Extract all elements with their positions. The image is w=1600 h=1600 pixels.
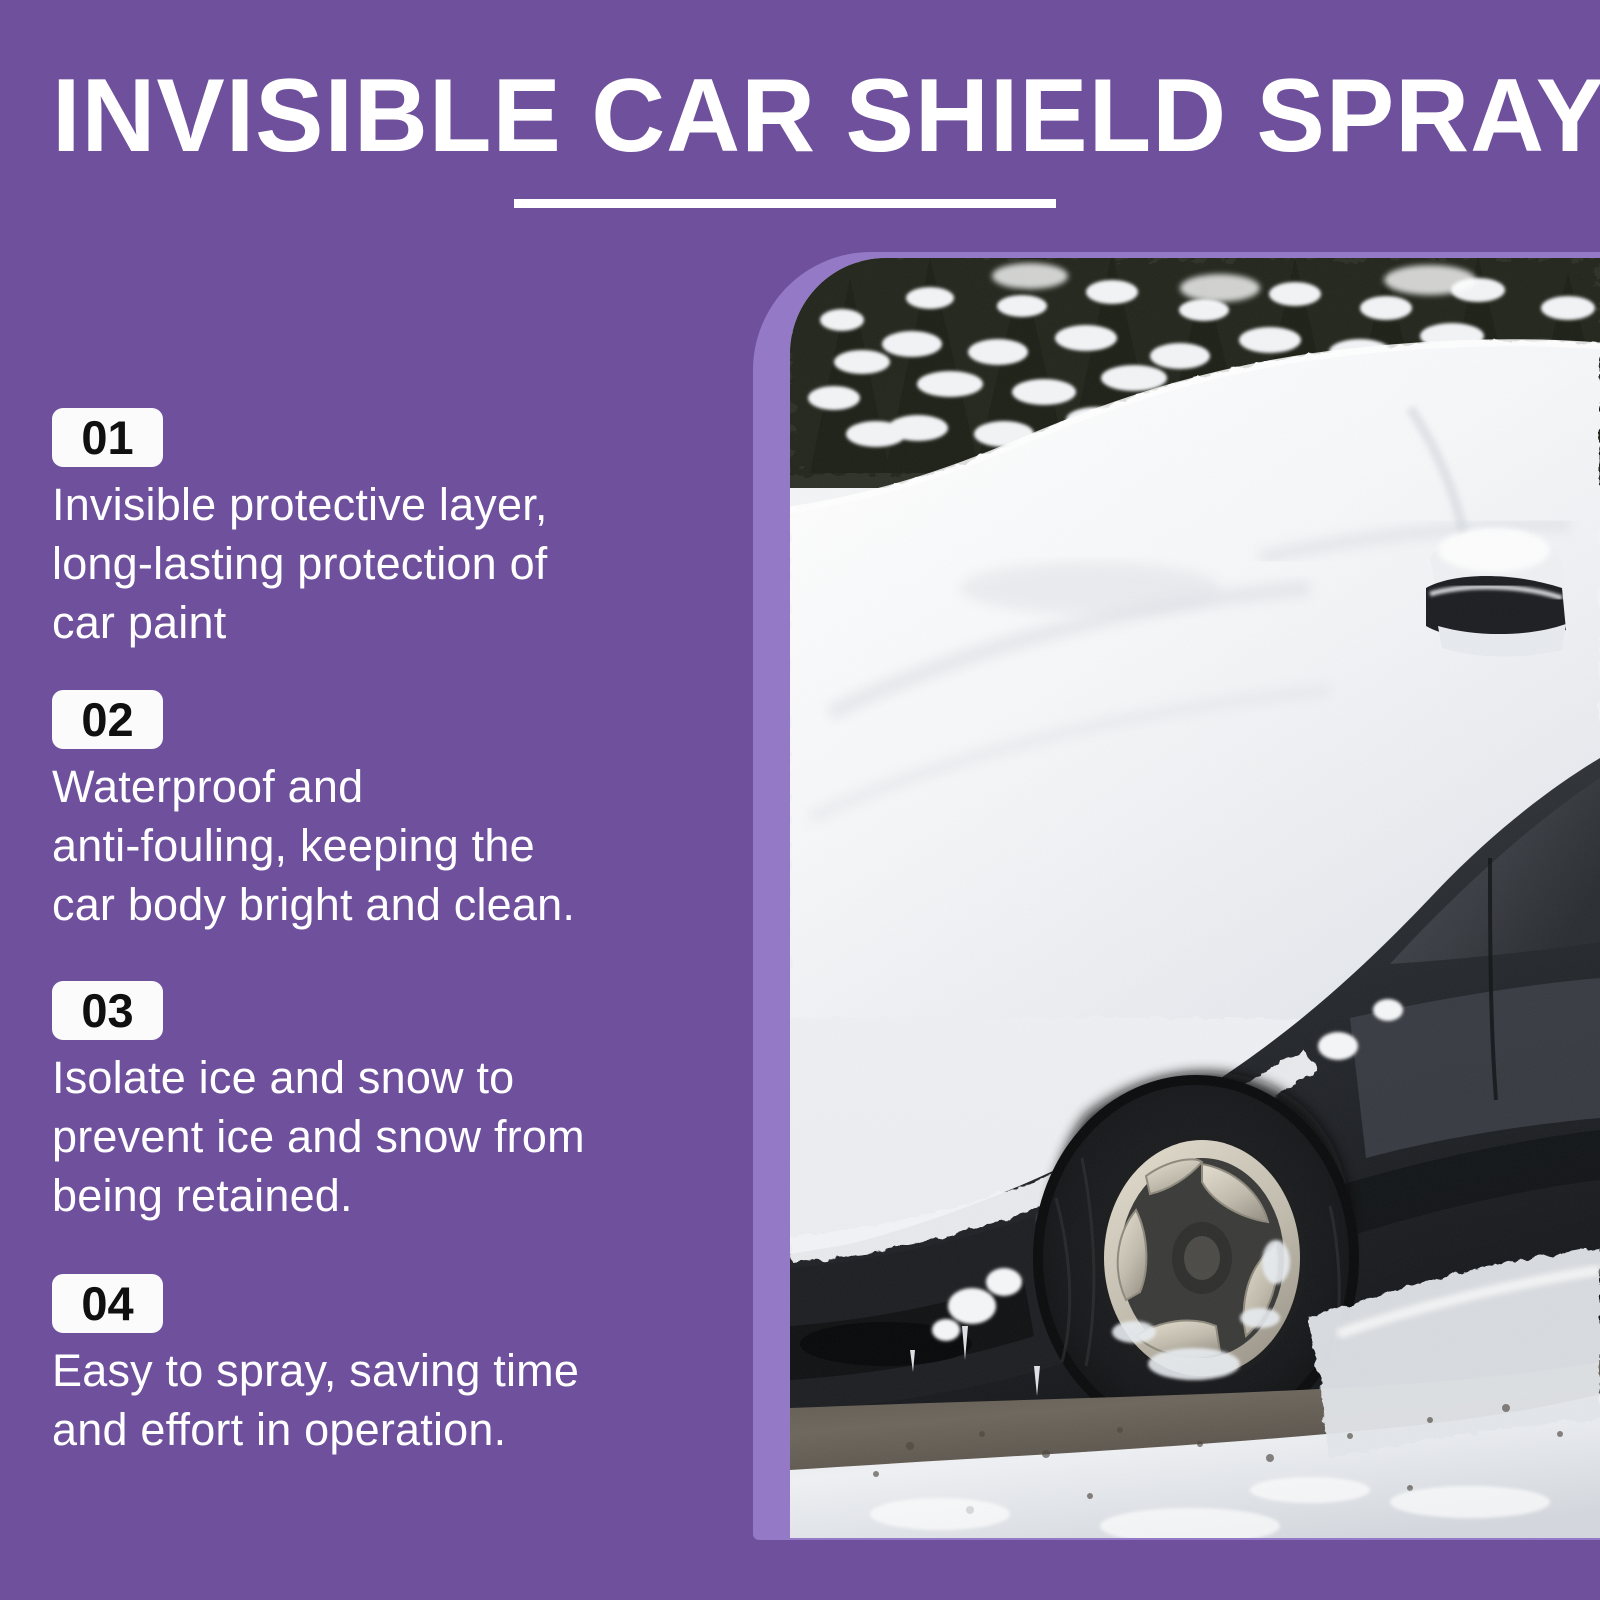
product-feature-poster: INVISIBLE CAR SHIELD SPRAY <box>0 0 1600 1600</box>
feature-number-badge: 02 <box>52 690 163 749</box>
feature-number-badge: 01 <box>52 408 163 467</box>
feature-item: 01 Invisible protective layer, long-last… <box>52 408 692 652</box>
feature-description: Invisible protective layer, long-lasting… <box>52 475 692 652</box>
title-underline-rule <box>514 199 1056 208</box>
feature-number-badge: 03 <box>52 981 163 1040</box>
feature-item: 03 Isolate ice and snow to prevent ice a… <box>52 981 692 1225</box>
snow-covered-car-photo <box>790 258 1600 1538</box>
feature-number-badge: 04 <box>52 1274 163 1333</box>
page-title: INVISIBLE CAR SHIELD SPRAY <box>52 62 1539 170</box>
feature-description: Waterproof and anti-fouling, keeping the… <box>52 757 692 934</box>
feature-description: Isolate ice and snow to prevent ice and … <box>52 1048 692 1225</box>
feature-item: 02 Waterproof and anti-fouling, keeping … <box>52 690 692 934</box>
snow-car-illustration <box>790 258 1600 1538</box>
feature-description: Easy to spray, saving time and effort in… <box>52 1341 692 1459</box>
feature-item: 04 Easy to spray, saving time and effort… <box>52 1274 692 1459</box>
